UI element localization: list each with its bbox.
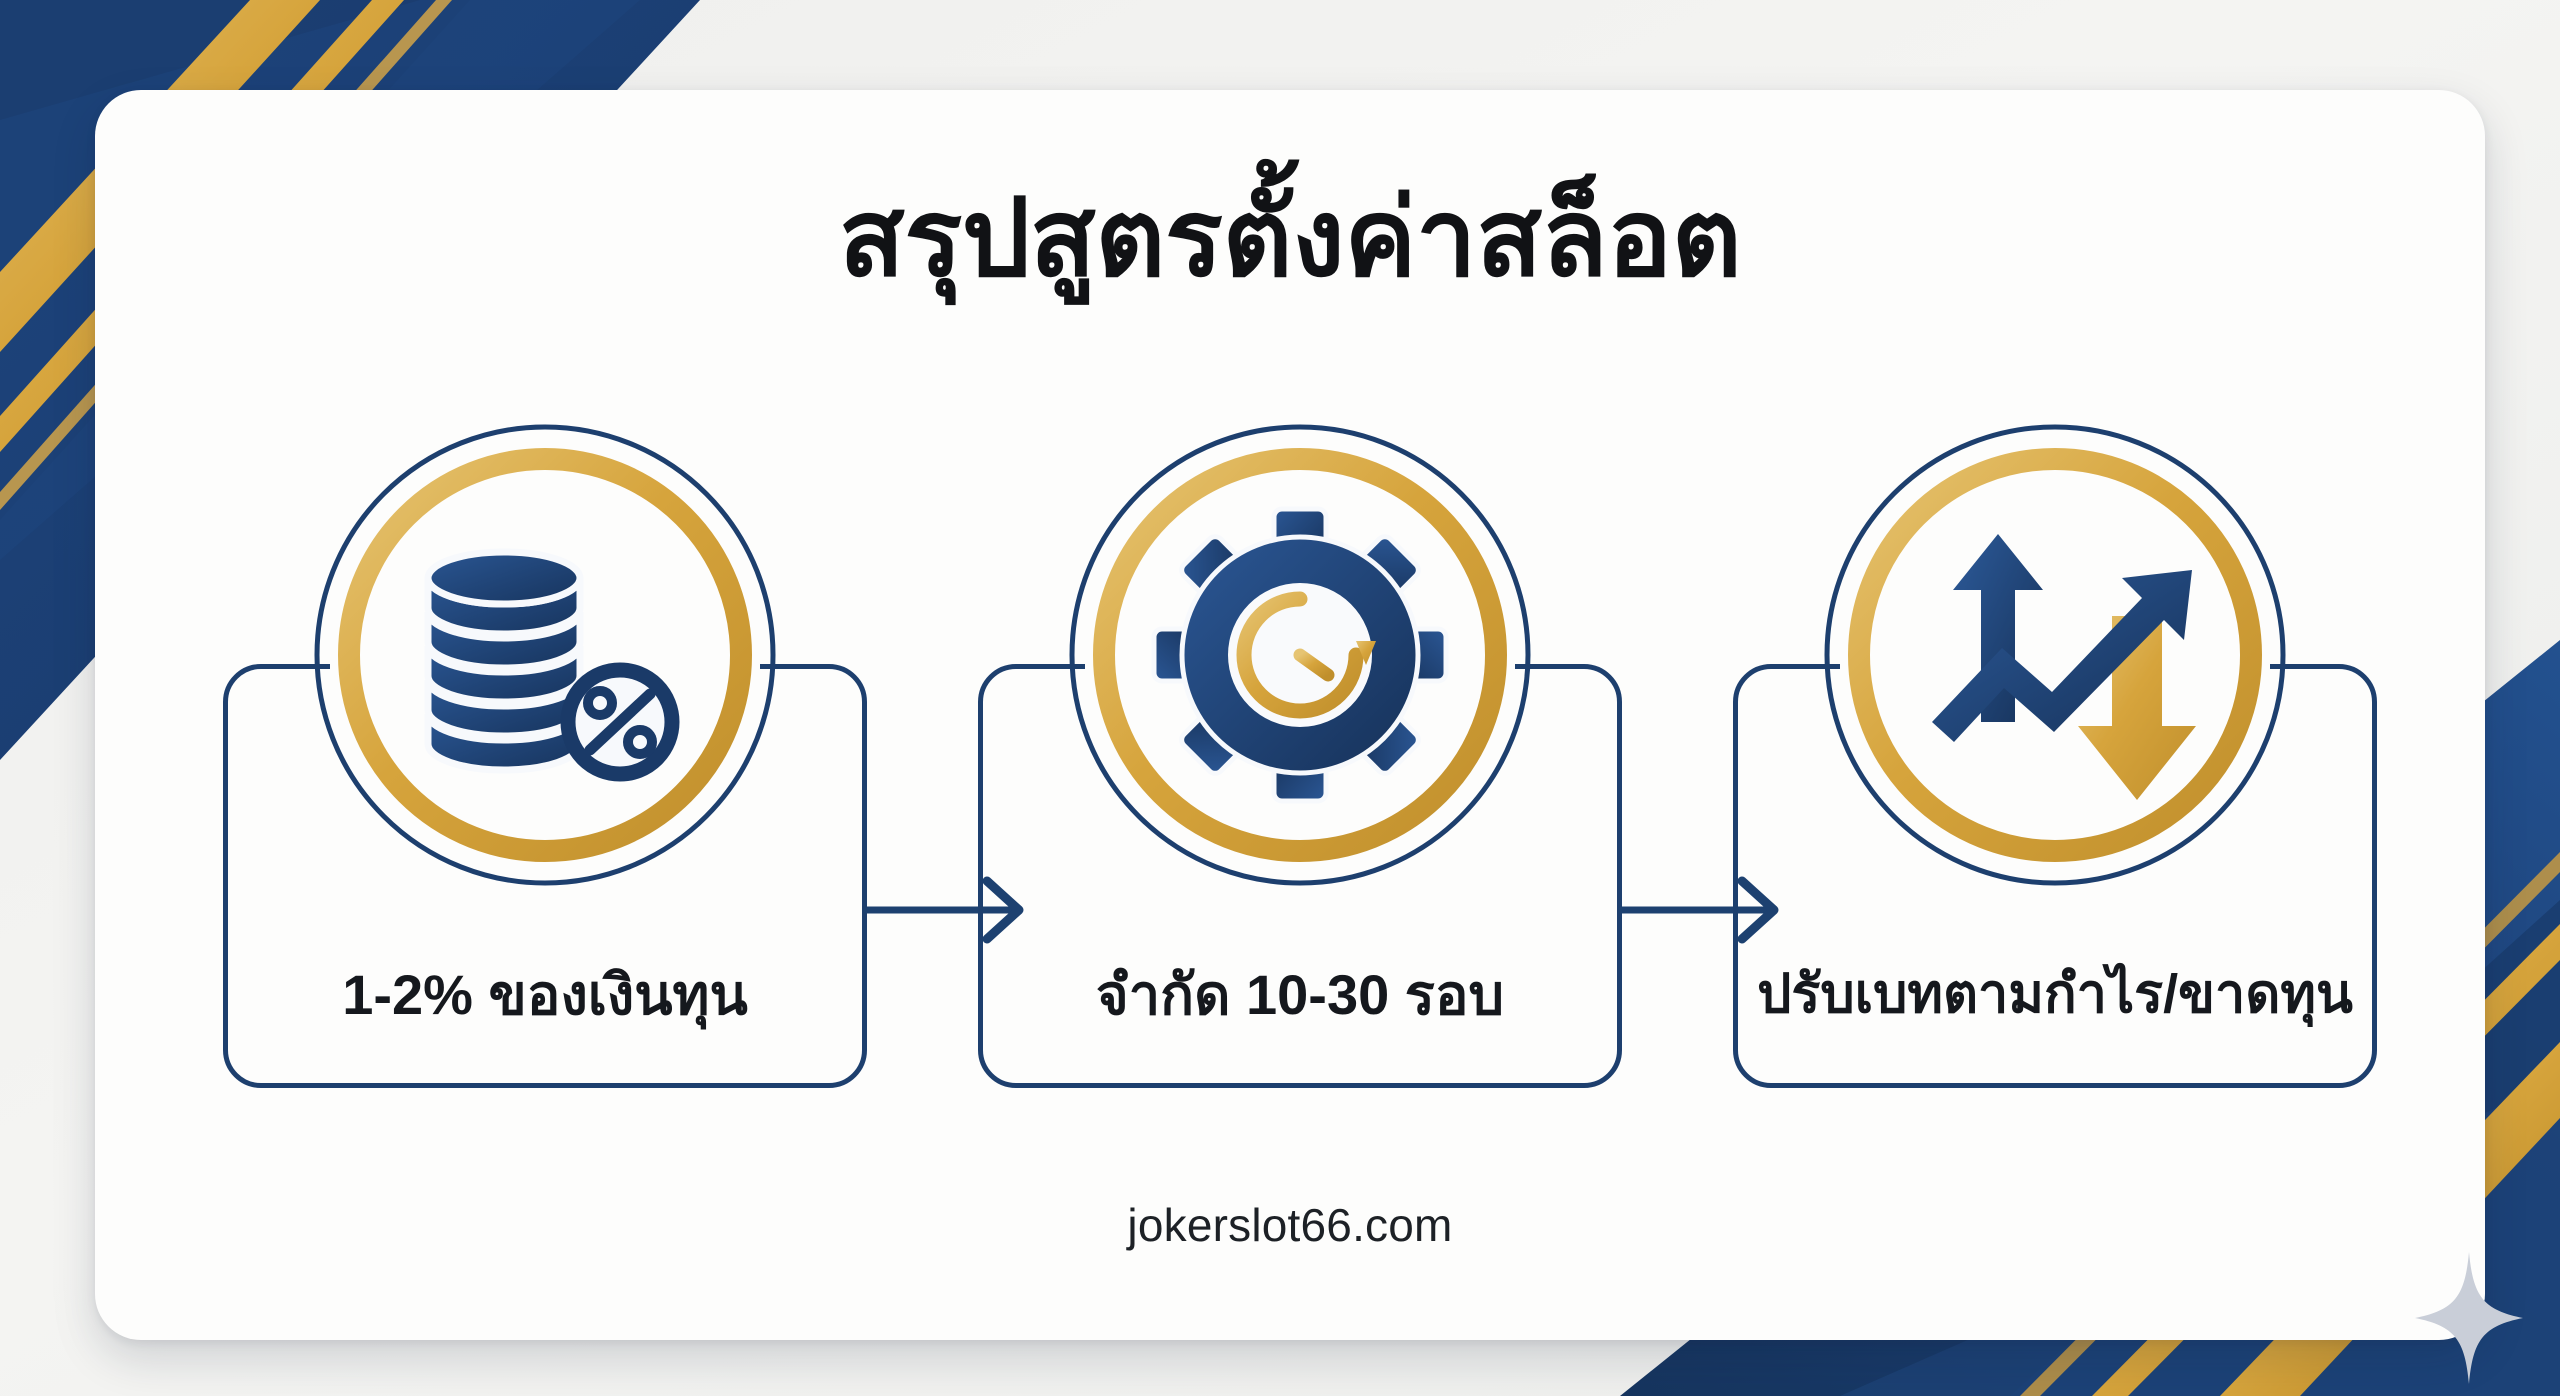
flow-diagram: 1-2% ของเงินทุน <box>205 420 2375 1150</box>
flow-step-2[interactable]: จำกัด 10-30 รอบ <box>960 420 1640 1150</box>
step-2-label: จำกัด 10-30 รอบ <box>960 950 1640 1039</box>
step-1-label: 1-2% ของเงินทุน <box>205 950 885 1039</box>
step-3-badge <box>1820 420 2290 890</box>
step-2-badge <box>1065 420 1535 890</box>
step-1-badge <box>310 420 780 890</box>
infographic-canvas: สรุปสูตรตั้งค่าสล็อต <box>0 0 2560 1396</box>
step-3-label: ปรับเบทตามกำไร/ขาดทุน <box>1715 950 2395 1036</box>
flow-step-3[interactable]: ปรับเบทตามกำไร/ขาดทุน <box>1715 420 2395 1150</box>
coin-stack-percent-icon <box>310 420 780 890</box>
flow-step-1[interactable]: 1-2% ของเงินทุน <box>205 420 885 1150</box>
gear-clock-icon <box>1065 420 1535 890</box>
content-card: สรุปสูตรตั้งค่าสล็อต <box>95 90 2485 1340</box>
footer-website: jokerslot66.com <box>95 1198 2485 1252</box>
page-title: สรุปสูตรตั้งค่าสล็อต <box>95 178 2485 299</box>
trend-up-down-arrows-icon <box>1820 420 2290 890</box>
